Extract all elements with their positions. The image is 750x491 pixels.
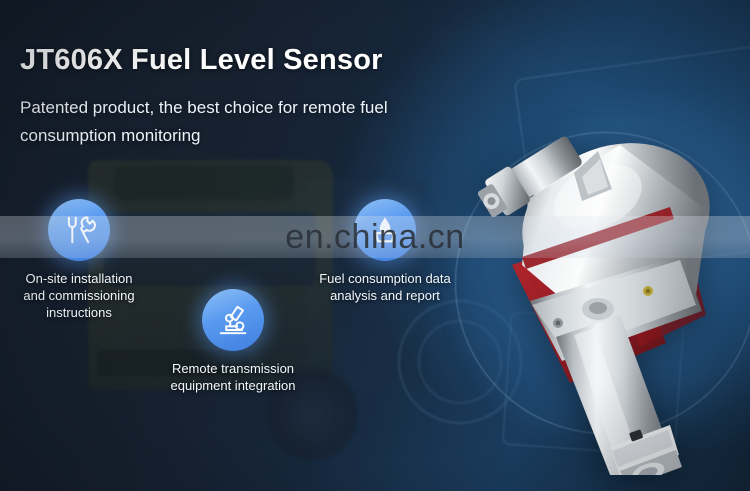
- feature-label: Fuel consumption data analysis and repor…: [300, 270, 470, 304]
- product-image: [470, 115, 750, 475]
- product-banner: JT606X Fuel Level Sensor Patented produc…: [0, 0, 750, 491]
- feature-label: Remote transmission equipment integratio…: [152, 360, 314, 394]
- page-title: JT606X Fuel Level Sensor: [20, 44, 383, 77]
- feature-item-remote-transmission: Remote transmission equipment integratio…: [152, 289, 314, 394]
- page-subtitle: Patented product, the best choice for re…: [20, 94, 465, 149]
- tools-icon: [48, 199, 110, 261]
- feature-item-installation: On-site installation and commissioning i…: [4, 199, 154, 321]
- truck-roof: [114, 166, 294, 200]
- feature-label: On-site installation and commissioning i…: [4, 270, 154, 321]
- fuel-data-icon: [354, 199, 416, 261]
- microscope-icon: [202, 289, 264, 351]
- feature-item-fuel-analysis: Fuel consumption data analysis and repor…: [300, 199, 470, 304]
